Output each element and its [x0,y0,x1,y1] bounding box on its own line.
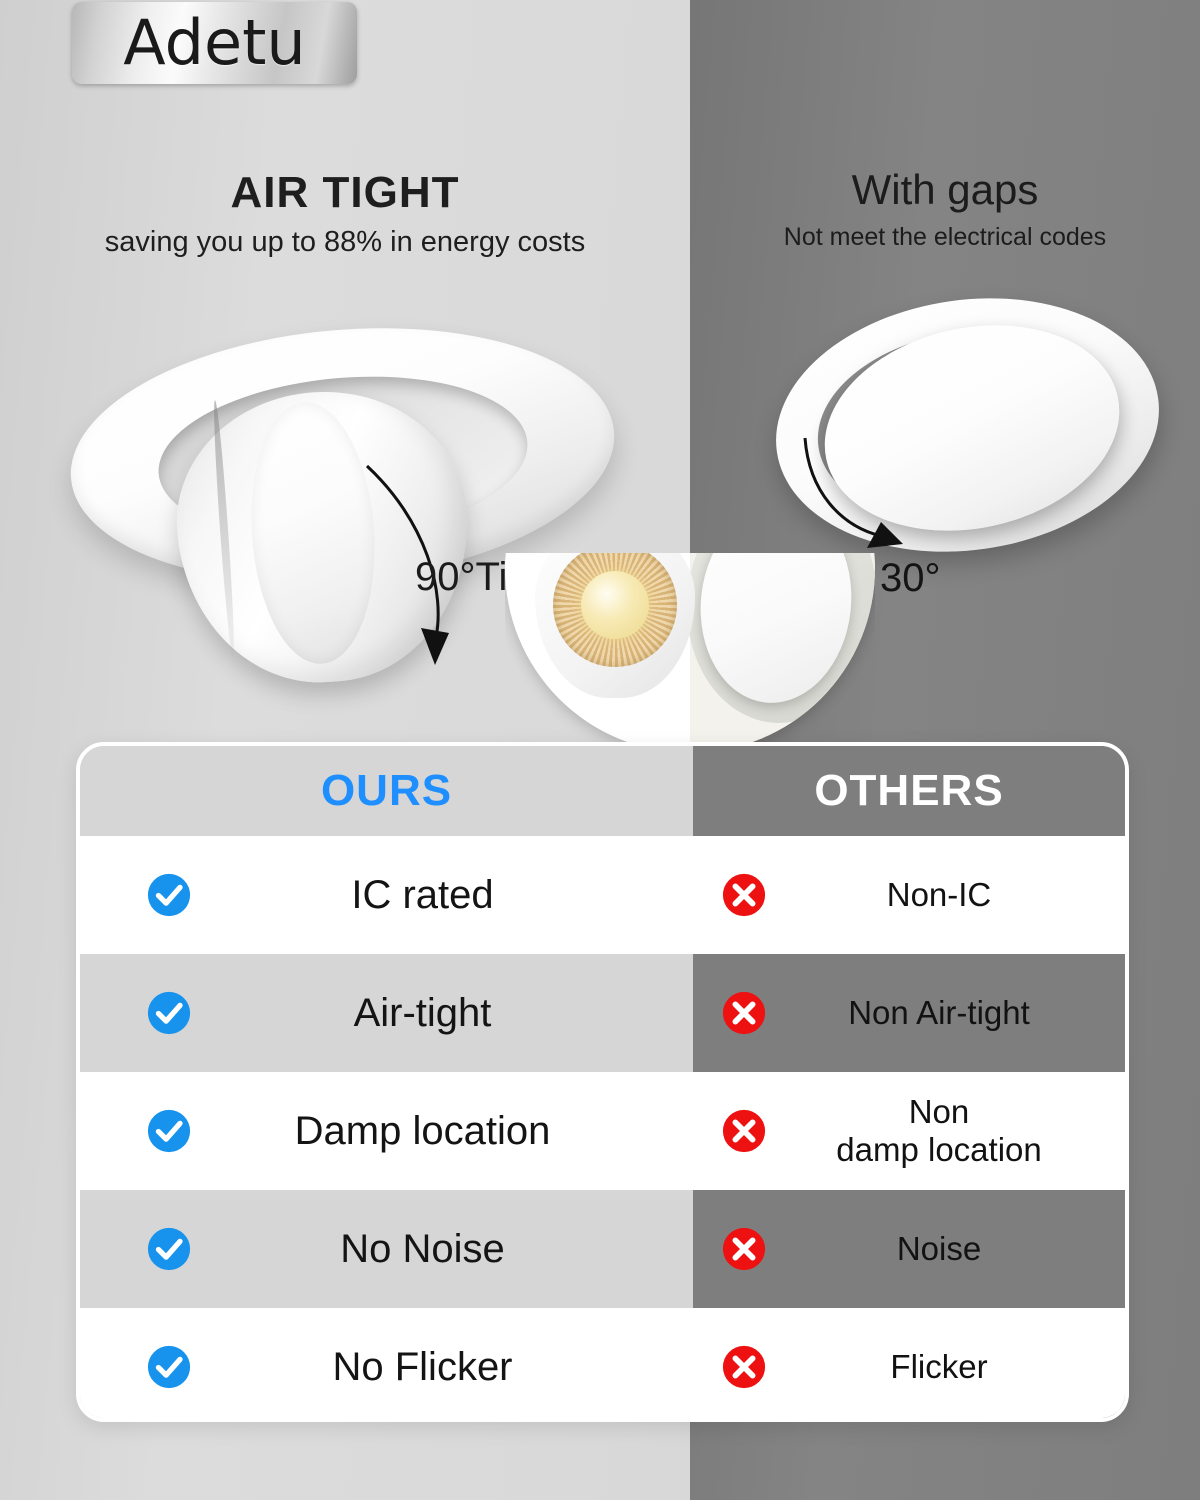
left-panel-heading: AIR TIGHT saving you up to 88% in energy… [0,168,690,259]
row-others-cell: Noise [693,1190,1125,1308]
left-panel-title: AIR TIGHT [0,168,690,218]
row-ours-cell: IC rated [80,836,693,954]
row-label-others: Flicker [767,1348,1125,1386]
tilt-angle-label-others: 30° [880,556,941,601]
check-circle-icon [146,1226,192,1272]
table-row: No Flicker Flicker [80,1308,1125,1422]
header-label-ours: OURS [321,766,452,816]
table-row: Air-tight Non Air-tight [80,954,1125,1072]
row-label-others: Non-IC [767,876,1125,914]
row-label-others: Non damp location [767,1093,1125,1168]
right-panel-subtitle: Not meet the electrical codes [690,223,1200,252]
row-label-ours: No Noise [192,1227,693,1272]
row-others-cell: Non Air-tight [693,954,1125,1072]
row-label-ours: IC rated [192,873,693,918]
table-row: IC rated Non-IC [80,836,1125,954]
row-others-cell: Flicker [693,1308,1125,1422]
cross-circle-icon [721,872,767,918]
comparison-table-header: OURS OTHERS [80,746,1125,836]
row-ours-cell: Damp location [80,1072,693,1190]
closeup-comparison-inset [505,553,875,753]
right-panel-heading: With gaps Not meet the electrical codes [690,166,1200,252]
cross-circle-icon [721,990,767,1036]
check-circle-icon [146,1108,192,1154]
check-circle-icon [146,990,192,1036]
check-circle-icon [146,1344,192,1390]
row-others-cell: Non-IC [693,836,1125,954]
header-label-others: OTHERS [814,766,1003,816]
row-ours-cell: Air-tight [80,954,693,1072]
right-panel-title: With gaps [690,166,1200,214]
table-row: No Noise Noise [80,1190,1125,1308]
row-label-ours: No Flicker [192,1345,693,1390]
tilt-arrow-30-icon [795,430,925,565]
closeup-circle [505,553,875,753]
comparison-table: OURS OTHERS IC rated Non-IC [76,742,1129,1422]
row-label-ours: Air-tight [192,991,693,1036]
row-label-ours: Damp location [192,1109,693,1154]
header-cell-ours: OURS [80,746,693,836]
row-others-cell: Non damp location [693,1072,1125,1190]
header-cell-others: OTHERS [693,746,1125,836]
brand-logo: Adetu [72,2,357,84]
row-label-others: Noise [767,1230,1125,1268]
cross-circle-icon [721,1108,767,1154]
closeup-ours-cob-led [581,571,649,639]
table-row: Damp location Non damp location [80,1072,1125,1190]
cross-circle-icon [721,1226,767,1272]
row-ours-cell: No Flicker [80,1308,693,1422]
check-circle-icon [146,872,192,918]
cross-circle-icon [721,1344,767,1390]
row-ours-cell: No Noise [80,1190,693,1308]
left-panel-subtitle: saving you up to 88% in energy costs [0,226,690,259]
row-label-others: Non Air-tight [767,994,1125,1032]
brand-logo-text: Adetu [123,12,305,74]
